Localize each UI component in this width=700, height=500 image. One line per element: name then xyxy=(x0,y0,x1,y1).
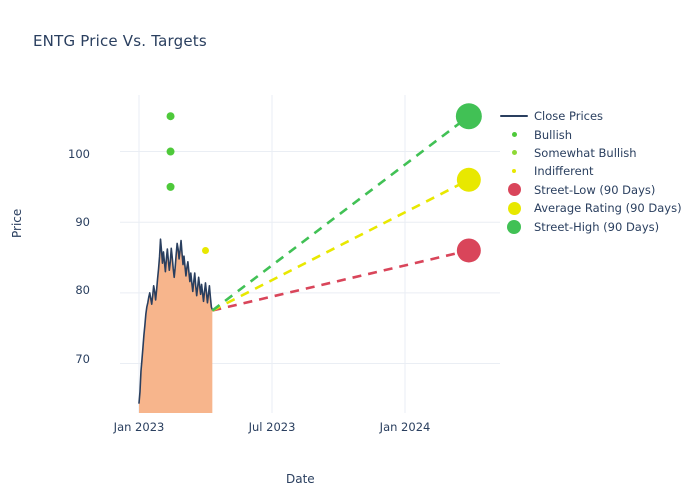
line-swatch xyxy=(500,115,528,118)
rating-scatter-points xyxy=(167,112,209,254)
legend-item[interactable]: Somewhat Bullish xyxy=(498,144,682,162)
legend-dot-icon xyxy=(498,150,530,155)
dot-swatch xyxy=(512,169,516,173)
legend-item-label: Indifferent xyxy=(530,164,594,178)
legend-item[interactable]: Indifferent xyxy=(498,162,682,180)
legend-line-icon xyxy=(498,115,530,118)
dot-swatch xyxy=(507,220,521,234)
legend-item-label: Average Rating (90 Days) xyxy=(530,201,682,215)
dot-swatch xyxy=(512,150,517,155)
legend-item-label: Somewhat Bullish xyxy=(530,146,637,160)
legend-item[interactable]: Bullish xyxy=(498,125,682,143)
chart-container: ENTG Price Vs. Targets 100 90 80 70 Jan … xyxy=(0,0,700,500)
chart-legend: Close PricesBullishSomewhat BullishIndif… xyxy=(498,107,682,236)
legend-dot-icon xyxy=(498,132,530,137)
legend-item-label: Bullish xyxy=(530,128,572,142)
legend-dot-icon xyxy=(498,220,530,234)
legend-dot-icon xyxy=(498,169,530,173)
legend-item[interactable]: Street-Low (90 Days) xyxy=(498,181,682,199)
legend-item[interactable]: Average Rating (90 Days) xyxy=(498,199,682,217)
legend-item-label: Close Prices xyxy=(530,109,603,123)
legend-dot-icon xyxy=(498,202,530,215)
dot-swatch xyxy=(508,202,521,215)
legend-item[interactable]: Street-High (90 Days) xyxy=(498,217,682,235)
legend-item[interactable]: Close Prices xyxy=(498,107,682,125)
dot-swatch xyxy=(508,183,521,196)
plot-area xyxy=(0,0,700,500)
dot-swatch xyxy=(512,132,517,137)
legend-item-label: Street-Low (90 Days) xyxy=(530,183,655,197)
legend-item-label: Street-High (90 Days) xyxy=(530,220,659,234)
target-projection-lines xyxy=(212,116,469,310)
legend-dot-icon xyxy=(498,183,530,196)
target-markers xyxy=(456,103,482,262)
